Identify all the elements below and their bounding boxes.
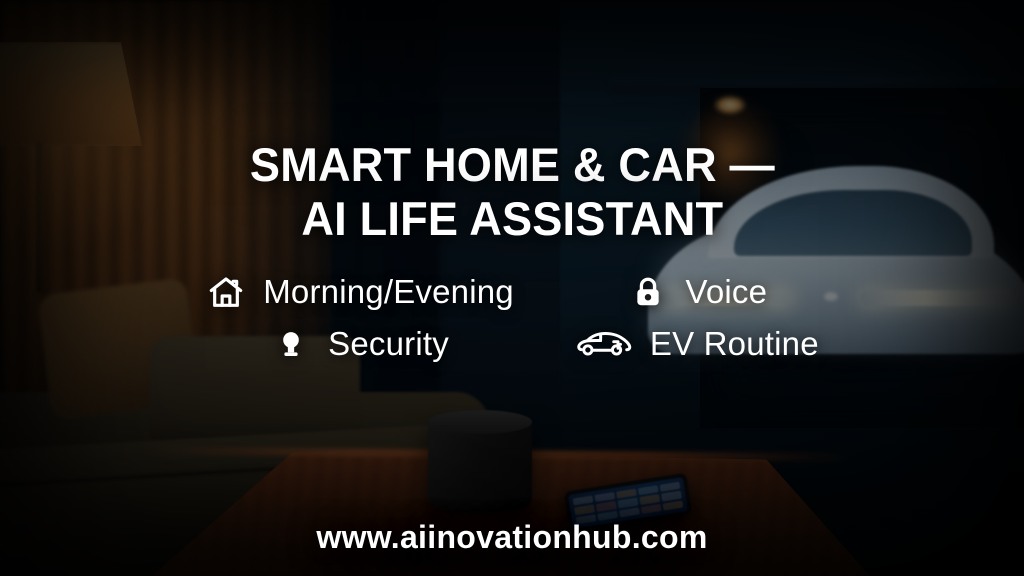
title-line-1: SMART HOME & CAR —	[250, 138, 775, 192]
website-url[interactable]: www.aiinovationhub.com	[0, 519, 1024, 556]
lock-icon	[627, 271, 669, 313]
feature-label-ev-routine: EV Routine	[650, 325, 819, 363]
feature-item-security: Security	[270, 323, 449, 365]
home-icon	[205, 271, 247, 313]
banner-content: SMART HOME & CAR — AI LIFE ASSISTANT Mor…	[0, 0, 1024, 576]
promo-banner: SMART HOME & CAR — AI LIFE ASSISTANT Mor…	[0, 0, 1024, 576]
page-title: SMART HOME & CAR — AI LIFE ASSISTANT	[250, 138, 775, 245]
feature-label-security: Security	[328, 325, 449, 363]
title-line-2: AI LIFE ASSISTANT	[250, 192, 775, 246]
lightbulb-icon	[270, 323, 312, 365]
feature-list: Morning/Evening Voice	[205, 271, 819, 365]
feature-item-voice: Voice	[627, 271, 767, 313]
car-icon	[576, 323, 634, 365]
feature-item-morning-evening: Morning/Evening	[205, 271, 514, 313]
feature-item-ev-routine: EV Routine	[576, 323, 819, 365]
feature-label-voice: Voice	[685, 273, 767, 311]
feature-label-morning-evening: Morning/Evening	[263, 273, 514, 311]
